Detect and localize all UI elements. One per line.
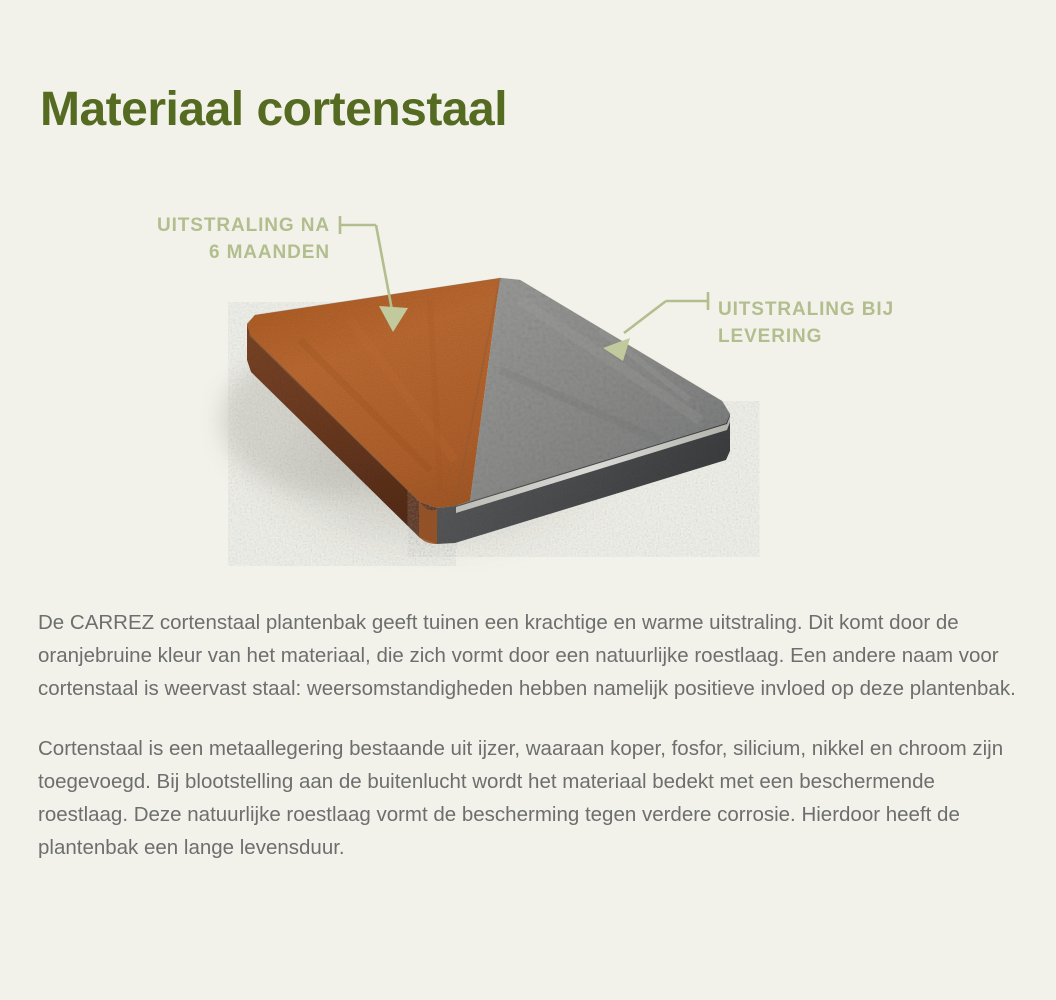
annotation-after-6-months: UITSTRALING NA 6 MAANDEN — [0, 213, 330, 267]
paragraph-composition: Cortenstaal is een metaallegering bestaa… — [38, 732, 1028, 865]
leader-line-at-delivery — [624, 292, 708, 333]
paragraph-intro: De CARREZ cortenstaal plantenbak geeft t… — [38, 606, 1028, 706]
page-title: Materiaal cortenstaal — [40, 84, 507, 137]
annotation-at-delivery-line-1: UITSTRALING BIJ — [718, 297, 1018, 324]
annotation-at-delivery: UITSTRALING BIJ LEVERING — [718, 297, 1018, 351]
annotation-after-6-months-line-1: UITSTRALING NA — [0, 213, 330, 240]
annotation-after-6-months-line-2: 6 MAANDEN — [0, 240, 330, 267]
annotation-at-delivery-line-2: LEVERING — [718, 324, 1018, 351]
body-copy: De CARREZ cortenstaal plantenbak geeft t… — [38, 606, 1028, 864]
